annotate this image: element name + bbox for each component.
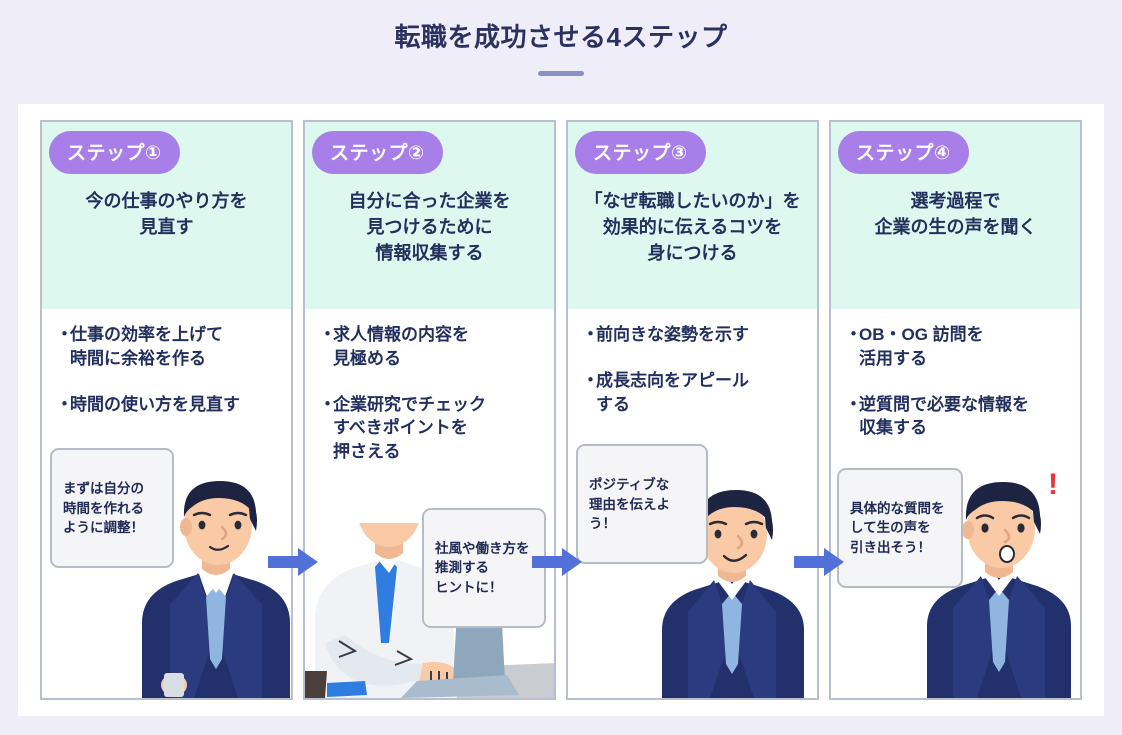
speech-bubble-4-text: 具体的な質問を して生の声を 引き出そう！ xyxy=(850,501,945,555)
list-item: ・ 企業研究でチェック すべきポイントを 押さえる xyxy=(319,393,544,464)
speech-bubble-2: 社風や働き方を 推測する ヒントに！ xyxy=(422,508,546,628)
step-illustration-2: 社風や働き方を 推測する ヒントに！ xyxy=(305,486,554,698)
bullet-text: 逆質問で必要な情報を 収集する xyxy=(859,393,1029,441)
step-bullets-3: ・ 前向きな姿勢を示す ・ 成長志向をアピール する xyxy=(568,309,817,438)
title-block: 転職を成功させる4ステップ xyxy=(0,0,1122,76)
bullet-text: 時間の使い方を見直す xyxy=(70,393,240,417)
list-item: ・ 仕事の効率を上げて 時間に余裕を作る xyxy=(56,323,281,371)
arrow-step2-to-step3 xyxy=(532,548,582,576)
step-badge-4: ステップ④ xyxy=(838,131,969,174)
step-badge-3: ステップ③ xyxy=(575,131,706,174)
step-card-2-header: ステップ② 自分に合った企業を 見つけるために 情報収集する xyxy=(305,122,554,309)
step-card-2[interactable]: ステップ② 自分に合った企業を 見つけるために 情報収集する ・ 求人情報の内容… xyxy=(303,120,556,700)
speech-bubble-4: 具体的な質問を して生の声を 引き出そう！ xyxy=(837,468,963,588)
step-card-4-header: ステップ④ 選考過程で 企業の生の声を聞く xyxy=(831,122,1080,309)
step-badge-2: ステップ② xyxy=(312,131,443,174)
speech-bubble-2-text: 社風や働き方を 推測する ヒントに！ xyxy=(435,541,530,595)
step-illustration-1: まずは自分の 時間を作れる ように調整！ xyxy=(42,438,291,698)
step-badge-1: ステップ① xyxy=(49,131,180,174)
arrow-step3-to-step4 xyxy=(794,548,844,576)
step-heading-1: 今の仕事のやり方を 見直す xyxy=(42,188,291,240)
bullet-text: 前向きな姿勢を示す xyxy=(596,323,749,347)
title-underline-accent xyxy=(538,71,584,76)
step-illustration-4: 具体的な質問を して生の声を 引き出そう！ ! xyxy=(831,462,1080,698)
bullet-text: 仕事の効率を上げて 時間に余裕を作る xyxy=(70,323,223,371)
bullet-text: 求人情報の内容を 見極める xyxy=(333,323,469,371)
list-item: ・ 逆質問で必要な情報を 収集する xyxy=(845,393,1070,441)
bullet-marker-icon: ・ xyxy=(319,393,333,417)
list-item: ・ 求人情報の内容を 見極める xyxy=(319,323,544,371)
bullet-marker-icon: ・ xyxy=(319,323,333,347)
infographic-page: 転職を成功させる4ステップ ステップ① 今の仕事のやり方を 見直す ・ 仕事の効… xyxy=(0,0,1122,735)
bullet-marker-icon: ・ xyxy=(845,323,859,347)
speech-bubble-3-text: ポジティブな 理由を伝えよう！ xyxy=(589,477,670,531)
speech-bubble-1-text: まずは自分の 時間を作れる ように調整！ xyxy=(63,481,144,535)
steps-board: ステップ① 今の仕事のやり方を 見直す ・ 仕事の効率を上げて 時間に余裕を作る… xyxy=(18,104,1104,716)
bullet-marker-icon: ・ xyxy=(845,393,859,417)
step-heading-2: 自分に合った企業を 見つけるために 情報収集する xyxy=(305,188,554,266)
bullet-marker-icon: ・ xyxy=(582,369,596,393)
bullet-marker-icon: ・ xyxy=(56,393,70,417)
speech-bubble-3: ポジティブな 理由を伝えよう！ xyxy=(576,444,708,564)
step-card-3-header: ステップ③ 「なぜ転職したいのか」を 効果的に伝えるコツを 身につける xyxy=(568,122,817,309)
exclamation-icon: ! xyxy=(1048,468,1058,502)
bullet-text: OB・OG 訪問を 活用する xyxy=(859,323,984,371)
step-bullets-4: ・ OB・OG 訪問を 活用する ・ 逆質問で必要な情報を 収集する xyxy=(831,309,1080,462)
bullet-text: 成長志向をアピール する xyxy=(596,369,749,417)
speech-bubble-1: まずは自分の 時間を作れる ように調整！ xyxy=(50,448,174,568)
bullet-marker-icon: ・ xyxy=(582,323,596,347)
step-card-1[interactable]: ステップ① 今の仕事のやり方を 見直す ・ 仕事の効率を上げて 時間に余裕を作る… xyxy=(40,120,293,700)
step-heading-4: 選考過程で 企業の生の声を聞く xyxy=(831,188,1080,240)
list-item: ・ 時間の使い方を見直す xyxy=(56,393,281,417)
list-item: ・ OB・OG 訪問を 活用する xyxy=(845,323,1070,371)
list-item: ・ 成長志向をアピール する xyxy=(582,369,807,417)
page-title: 転職を成功させる4ステップ xyxy=(0,22,1122,53)
bullet-marker-icon: ・ xyxy=(56,323,70,347)
step-card-4[interactable]: ステップ④ 選考過程で 企業の生の声を聞く ・ OB・OG 訪問を 活用する ・… xyxy=(829,120,1082,700)
step-illustration-3: ポジティブな 理由を伝えよう！ xyxy=(568,438,817,698)
step-card-1-header: ステップ① 今の仕事のやり方を 見直す xyxy=(42,122,291,309)
arrow-step1-to-step2 xyxy=(268,548,318,576)
step-heading-3: 「なぜ転職したいのか」を 効果的に伝えるコツを 身につける xyxy=(568,188,817,266)
steps-container: ステップ① 今の仕事のやり方を 見直す ・ 仕事の効率を上げて 時間に余裕を作る… xyxy=(40,120,1082,700)
bullet-text: 企業研究でチェック すべきポイントを 押さえる xyxy=(333,393,486,464)
step-card-3[interactable]: ステップ③ 「なぜ転職したいのか」を 効果的に伝えるコツを 身につける ・ 前向… xyxy=(566,120,819,700)
list-item: ・ 前向きな姿勢を示す xyxy=(582,323,807,347)
step-bullets-1: ・ 仕事の効率を上げて 時間に余裕を作る ・ 時間の使い方を見直す xyxy=(42,309,291,438)
step-bullets-2: ・ 求人情報の内容を 見極める ・ 企業研究でチェック すべきポイントを 押さえ… xyxy=(305,309,554,486)
